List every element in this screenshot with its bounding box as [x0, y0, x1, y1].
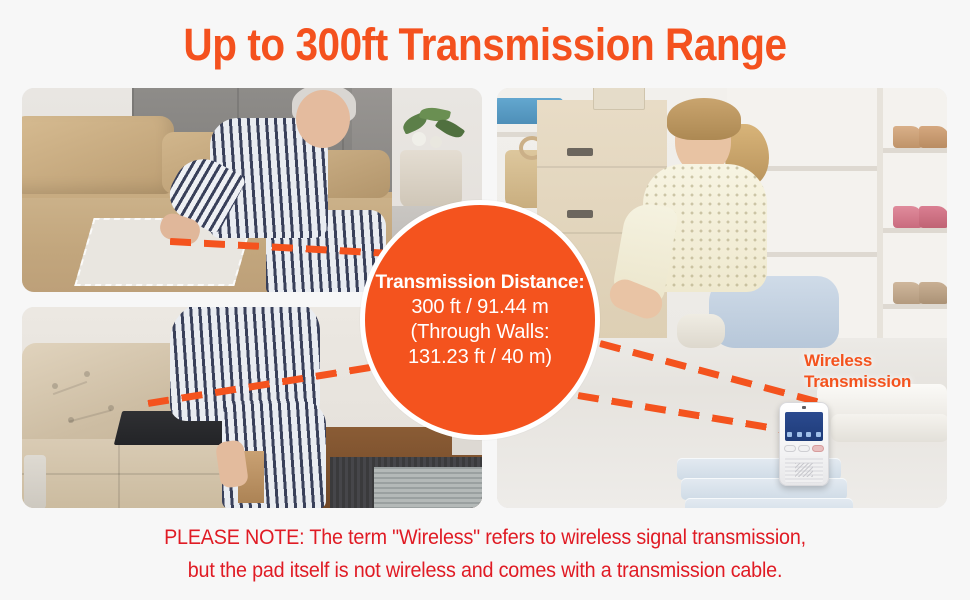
wireless-receiver-device [779, 402, 829, 486]
device-buttons [784, 445, 824, 452]
device-led [802, 406, 806, 409]
device-speaker-mesh [795, 463, 813, 477]
device-button-alarm[interactable] [798, 445, 810, 452]
area-rug [374, 467, 482, 508]
vase-decor [24, 455, 46, 508]
device-screen [785, 412, 823, 441]
screen-icon [816, 432, 821, 437]
person-standing [160, 307, 340, 508]
note-line-1: PLEASE NOTE: The term "Wireless" refers … [29, 521, 941, 554]
wireless-label-line2: Transmission [804, 371, 911, 392]
callout-line-3: 131.23 ft / 40 m) [408, 345, 552, 370]
pillow [22, 116, 174, 194]
basket-decor [400, 150, 462, 208]
drawer-handle [567, 210, 593, 218]
transmission-distance-callout: Transmission Distance: 300 ft / 91.44 m … [360, 200, 600, 440]
device-button-mute[interactable] [812, 445, 824, 452]
page-title: Up to 300ft Transmission Range [49, 19, 922, 71]
callout-line-1: 300 ft / 91.44 m [411, 295, 548, 320]
shoe [919, 282, 947, 304]
head [296, 90, 350, 148]
foot [677, 314, 725, 348]
woman-folding-laundry [617, 108, 807, 408]
person-on-bed [200, 90, 390, 292]
disclaimer-note: PLEASE NOTE: The term "Wireless" refers … [29, 521, 941, 587]
shoe [919, 126, 947, 148]
callout-heading: Transmission Distance: [376, 271, 585, 295]
screen-icon [787, 432, 792, 437]
storage-box [593, 88, 645, 110]
shoe [919, 206, 947, 228]
device-button-reset[interactable] [784, 445, 796, 452]
callout-line-2: (Through Walls: [411, 320, 550, 345]
hair [667, 98, 741, 140]
wireless-transmission-label: Wireless Transmission [804, 350, 911, 392]
screen-icon [806, 432, 811, 437]
drawer-handle [567, 148, 593, 156]
screen-icon [797, 432, 802, 437]
note-line-2: but the pad itself is not wireless and c… [29, 554, 941, 587]
wireless-label-line1: Wireless [804, 350, 911, 371]
folded-white-towel [831, 414, 947, 442]
